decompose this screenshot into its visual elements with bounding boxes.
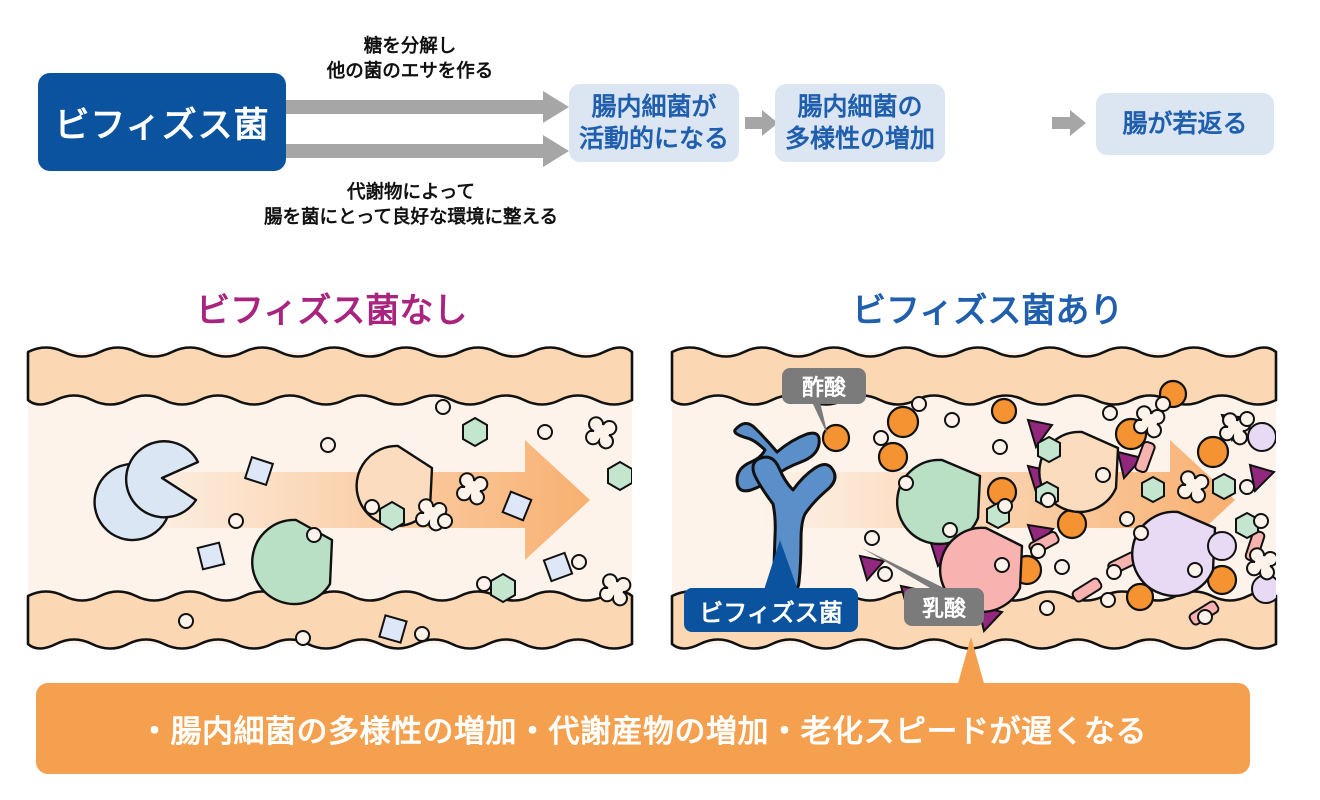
banner-pointer xyxy=(957,637,985,687)
gut-panel-left xyxy=(28,348,632,649)
gut-illustration-layer xyxy=(0,0,1320,800)
microbe-pacman xyxy=(1132,512,1215,596)
summary-banner: ・腸内細菌の多様性の増加・代謝産物の増加・老化スピードが遅くなる xyxy=(36,683,1250,774)
callout-bifidobacteria-label: ビフィズス菌 xyxy=(699,593,843,628)
infographic-canvas: ビフィズス菌 糖を分解し 他の菌のエサを作る 代謝物によって 腸を菌にとって良好… xyxy=(0,0,1320,800)
callout-acetic-acid[interactable]: 酢酸 xyxy=(782,368,866,404)
summary-banner-text: ・腸内細菌の多様性の増加・代謝産物の増加・老化スピードが遅くなる xyxy=(139,706,1147,751)
callout-bifidobacteria[interactable]: ビフィズス菌 xyxy=(684,588,858,632)
callout-lactic-acid-label: 乳酸 xyxy=(922,591,966,623)
callout-lactic-acid[interactable]: 乳酸 xyxy=(904,588,984,626)
callout-acetic-acid-label: 酢酸 xyxy=(802,370,846,402)
